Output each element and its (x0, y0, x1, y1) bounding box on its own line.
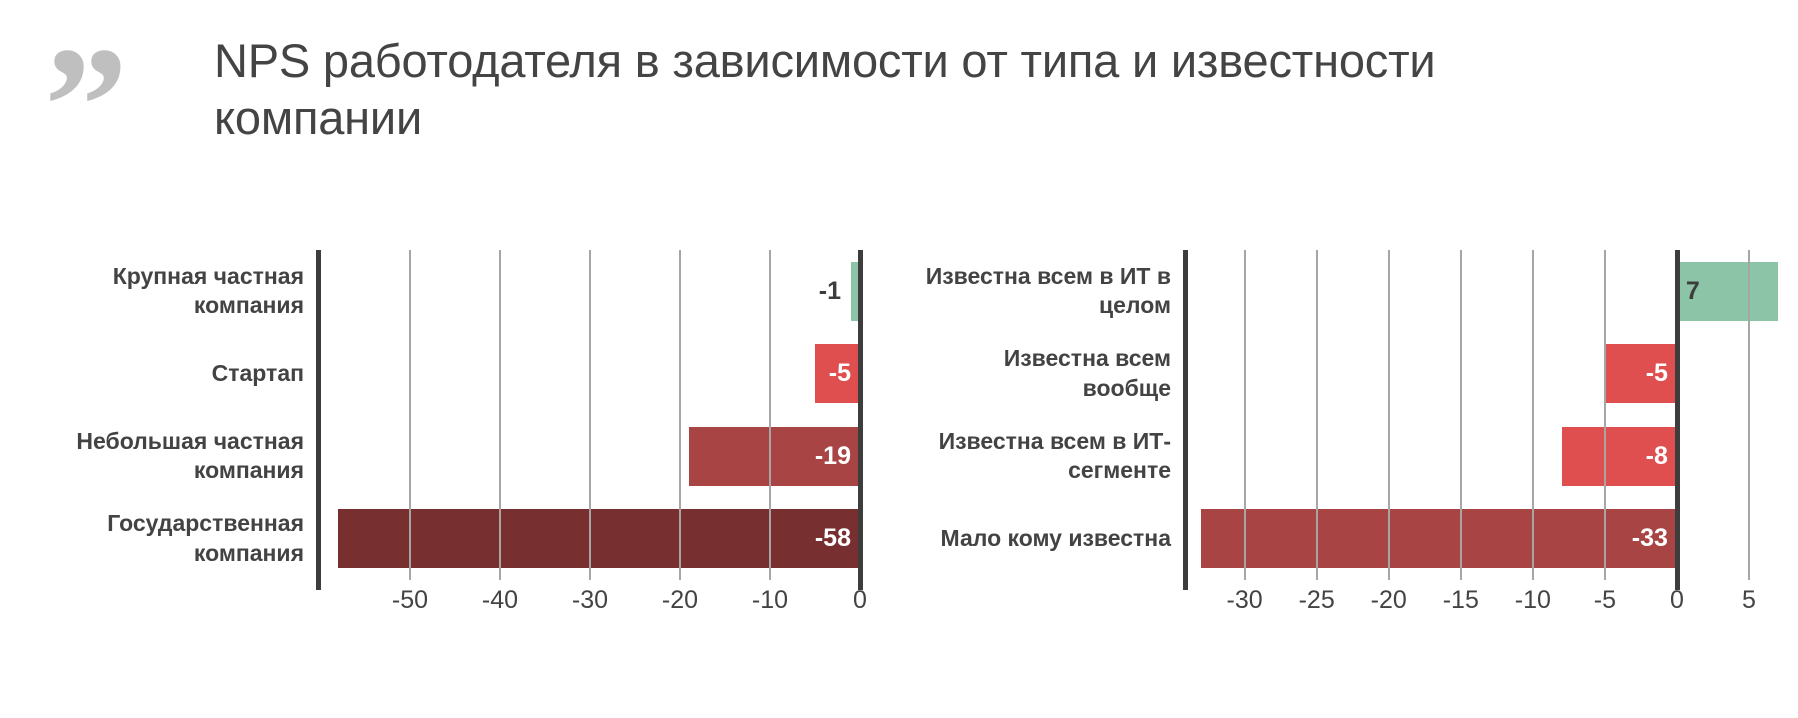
charts-container: Крупная частная компанияСтартапНебольшая… (0, 250, 1798, 670)
bar: -58 (338, 509, 860, 568)
x-tick-label: -25 (1299, 586, 1335, 615)
gridline (1460, 250, 1462, 580)
gridline (1532, 250, 1534, 580)
x-tick-label: 0 (853, 586, 867, 615)
x-tick-label: 5 (1742, 586, 1756, 615)
gridline (1244, 250, 1246, 580)
x-tick-label: 0 (1670, 586, 1684, 615)
x-tick-label: -50 (392, 586, 428, 615)
bar: -5 (815, 344, 860, 403)
x-tick-label: -5 (1594, 586, 1616, 615)
zero-axis-line (858, 250, 863, 590)
bar: -19 (689, 427, 860, 486)
bar-chart-company-type: Крупная частная компанияСтартапНебольшая… (18, 250, 878, 670)
gridline (679, 250, 681, 580)
x-tick-label: -10 (752, 586, 788, 615)
category-label: Мало кому известна (911, 509, 1171, 568)
bar-value-label: -1 (819, 277, 841, 306)
category-labels-right: Известна всем в ИТ в целомИзвестна всем … (905, 250, 1185, 670)
category-label: Известна всем в ИТ в целом (911, 262, 1171, 321)
bar-chart-company-fame: Известна всем в ИТ в целомИзвестна всем … (905, 250, 1785, 670)
gridline (769, 250, 771, 580)
quote-mark-icon: ” (44, 22, 124, 190)
category-label: Государственная компания (24, 509, 304, 568)
bar-value-label: -33 (1632, 524, 1668, 553)
bar-value-label: -58 (815, 524, 851, 553)
page-title: NPS работодателя в зависимости от типа и… (214, 32, 1514, 147)
category-label: Известна всем в ИТ-сегменте (911, 427, 1171, 486)
category-label: Стартап (24, 344, 304, 403)
bar-value-label: -19 (815, 442, 851, 471)
category-label: Небольшая частная компания (24, 427, 304, 486)
gridline (1604, 250, 1606, 580)
x-tick-label: -20 (662, 586, 698, 615)
plot-area-left: -1-5-19-58 -50-40-30-20-100 (320, 250, 878, 670)
x-tick-label: -40 (482, 586, 518, 615)
category-label: Известна всем вообще (911, 344, 1171, 403)
category-axis-line (316, 250, 321, 590)
gridline (499, 250, 501, 580)
x-tick-label: -10 (1515, 586, 1551, 615)
bar: 7 (1677, 262, 1778, 321)
plot-area-right: 7-5-8-33 -30-25-20-15-10-505 (1187, 250, 1785, 670)
category-labels-left: Крупная частная компанияСтартапНебольшая… (18, 250, 318, 670)
gridline (1748, 250, 1750, 580)
gridline (1316, 250, 1318, 580)
zero-axis-line (1675, 250, 1680, 590)
x-tick-label: -15 (1443, 586, 1479, 615)
category-label: Крупная частная компания (24, 262, 304, 321)
bar-value-label: -5 (829, 359, 851, 388)
bar: -5 (1605, 344, 1677, 403)
gridline (589, 250, 591, 580)
header: ” NPS работодателя в зависимости от типа… (0, 0, 1798, 190)
bar-value-label: -8 (1646, 442, 1668, 471)
bar-value-label: 7 (1686, 277, 1700, 306)
gridline (1388, 250, 1390, 580)
x-tick-label: -20 (1371, 586, 1407, 615)
x-tick-label: -30 (1227, 586, 1263, 615)
x-tick-label: -30 (572, 586, 608, 615)
bar: -8 (1562, 427, 1677, 486)
bar-value-label: -5 (1646, 359, 1668, 388)
category-axis-line (1183, 250, 1188, 590)
chart-page: ” NPS работодателя в зависимости от типа… (0, 0, 1798, 718)
gridline (409, 250, 411, 580)
